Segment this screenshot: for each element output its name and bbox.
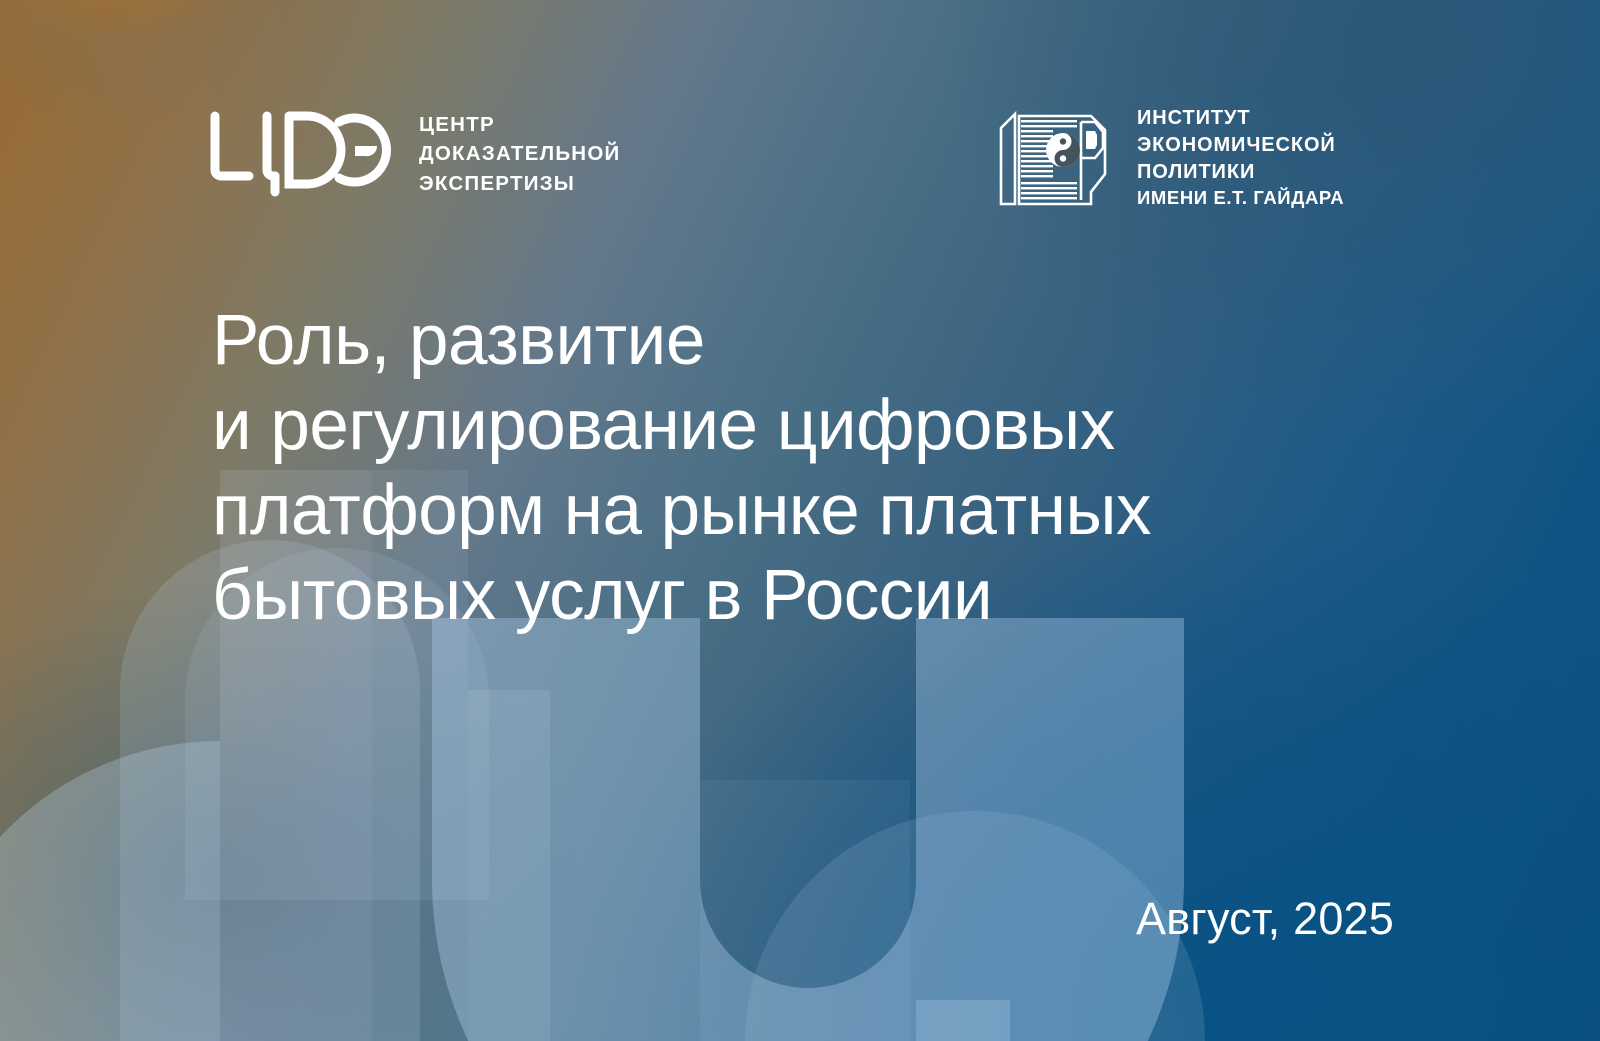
title-slide: ЦЕНТР ДОКАЗАТЕЛЬНОЙ ЭКСПЕРТИЗЫ [0,0,1600,1041]
lide-line-1: ЦЕНТР [419,110,621,139]
logo-iep: ИНСТИТУТ ЭКОНОМИЧЕСКОЙ ПОЛИТИКИ имени Е.… [995,100,1344,216]
iep-line-4: имени Е.Т. ГАЙДАРА [1137,186,1344,211]
lide-monogram-icon [205,108,393,200]
page-title: Роль, развитие и регулирование цифровых … [212,298,1442,638]
title-line-2: и регулирование цифровых [212,383,1442,468]
date-label: Август, 2025 [1136,893,1394,945]
iep-wordmark: ИНСТИТУТ ЭКОНОМИЧЕСКОЙ ПОЛИТИКИ имени Е.… [1137,105,1344,211]
iep-emblem-icon [995,100,1115,216]
lide-line-2: ДОКАЗАТЕЛЬНОЙ [419,139,621,168]
iep-line-1: ИНСТИТУТ [1137,105,1344,132]
yin-yang-icon [1046,133,1080,167]
title-line-3: платформ на рынке платных [212,468,1442,553]
logo-row: ЦЕНТР ДОКАЗАТЕЛЬНОЙ ЭКСПЕРТИЗЫ [205,100,1405,220]
lide-wordmark: ЦЕНТР ДОКАЗАТЕЛЬНОЙ ЭКСПЕРТИЗЫ [419,110,621,197]
iep-line-2: ЭКОНОМИЧЕСКОЙ [1137,132,1344,159]
title-line-1: Роль, развитие [212,298,1442,383]
lide-tick-icon [355,146,377,156]
logo-lide: ЦЕНТР ДОКАЗАТЕЛЬНОЙ ЭКСПЕРТИЗЫ [205,108,621,200]
iep-line-3: ПОЛИТИКИ [1137,159,1344,186]
title-line-4: бытовых услуг в России [212,553,1442,638]
slide-content: ЦЕНТР ДОКАЗАТЕЛЬНОЙ ЭКСПЕРТИЗЫ [0,0,1600,1041]
lide-line-3: ЭКСПЕРТИЗЫ [419,169,621,198]
